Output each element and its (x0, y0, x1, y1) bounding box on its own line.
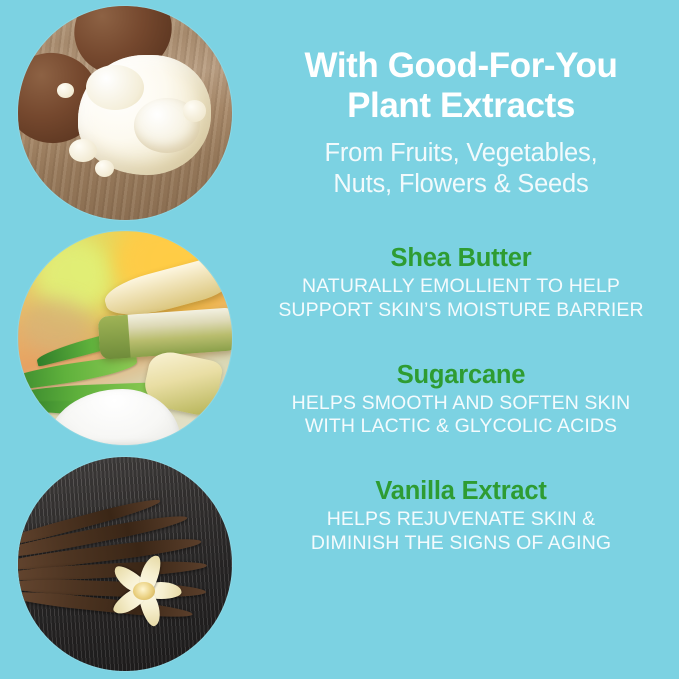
ingredient-name: Shea Butter (262, 244, 660, 272)
subtitle-line-2: Nuts, Flowers & Seeds (262, 169, 660, 200)
ingredient-description: HELPS SMOOTH AND SOFTEN SKIN WITH LACTIC… (262, 392, 660, 440)
shea-butter-image (18, 6, 232, 220)
vanilla-photo (18, 457, 232, 671)
ingredient-desc-line-2: WITH LACTIC & GLYCOLIC ACIDS (262, 415, 660, 439)
ingredient-desc-line-1: NATURALLY EMOLLIENT TO HELP (302, 275, 620, 297)
ingredient-name: Vanilla Extract (262, 477, 660, 505)
shea-butter-photo (18, 6, 232, 220)
page-subtitle: From Fruits, Vegetables, Nuts, Flowers &… (262, 138, 660, 200)
ingredient-block-sugarcane: Sugarcane HELPS SMOOTH AND SOFTEN SKIN W… (262, 361, 660, 440)
text-column: With Good-For-You Plant Extracts From Fr… (262, 0, 660, 679)
subtitle-line-1: From Fruits, Vegetables, (325, 139, 598, 167)
ingredient-desc-line-1: HELPS SMOOTH AND SOFTEN SKIN (292, 392, 631, 414)
sugarcane-photo (18, 231, 232, 445)
ingredient-desc-line-1: HELPS REJUVENATE SKIN & (327, 508, 596, 530)
ingredient-description: NATURALLY EMOLLIENT TO HELP SUPPORT SKIN… (262, 275, 660, 323)
ingredient-block-shea-butter: Shea Butter NATURALLY EMOLLIENT TO HELP … (262, 244, 660, 323)
flower-center (133, 582, 155, 600)
ingredient-desc-line-2: SUPPORT SKIN’S MOISTURE BARRIER (262, 299, 660, 323)
page-title: With Good-For-You Plant Extracts (262, 0, 660, 126)
plant-extracts-infographic: { "theme": { "background_color": "#7cd2e… (0, 0, 679, 679)
vanilla-image (18, 457, 232, 671)
vanilla-flower-icon (99, 551, 189, 632)
headline-line-1: With Good-For-You (305, 46, 618, 85)
headline-line-2: Plant Extracts (262, 86, 660, 126)
ingredient-name: Sugarcane (262, 361, 660, 389)
butter-crumb (57, 83, 74, 98)
butter-crumb (183, 100, 207, 121)
ingredient-description: HELPS REJUVENATE SKIN & DIMINISH THE SIG… (262, 508, 660, 556)
ingredient-desc-line-2: DIMINISH THE SIGNS OF AGING (262, 532, 660, 556)
ingredient-block-vanilla-extract: Vanilla Extract HELPS REJUVENATE SKIN & … (262, 477, 660, 556)
photo-column (0, 0, 252, 679)
sugarcane-image (18, 231, 232, 445)
